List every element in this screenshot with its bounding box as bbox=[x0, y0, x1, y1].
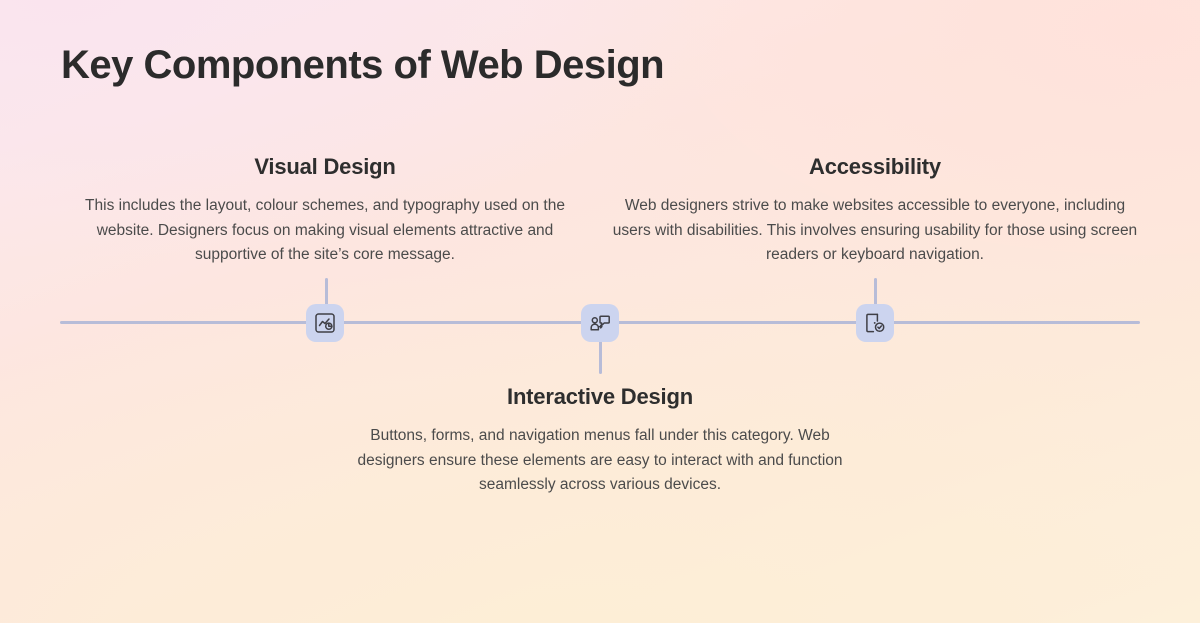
user-message-icon bbox=[588, 311, 612, 335]
timeline-item-accessibility: Accessibility Web designers strive to ma… bbox=[610, 154, 1140, 268]
timeline-marker-accessibility[interactable] bbox=[856, 304, 894, 342]
device-check-icon bbox=[863, 311, 887, 335]
timeline-item-description: Buttons, forms, and navigation menus fal… bbox=[335, 424, 865, 497]
timeline-item-title: Visual Design bbox=[60, 154, 590, 180]
connector-stem-interactive-design bbox=[599, 338, 602, 374]
timeline-item-interactive-design: Interactive Design Buttons, forms, and n… bbox=[335, 384, 865, 498]
timeline-item-description: Web designers strive to make websites ac… bbox=[610, 194, 1140, 267]
slide-root: Key Components of Web Design bbox=[0, 0, 1200, 623]
page-title: Key Components of Web Design bbox=[61, 42, 664, 88]
timeline-item-title: Accessibility bbox=[610, 154, 1140, 180]
timeline-item-description: This includes the layout, colour schemes… bbox=[60, 194, 590, 267]
timeline-marker-interactive-design[interactable] bbox=[581, 304, 619, 342]
timeline-item-title: Interactive Design bbox=[335, 384, 865, 410]
timeline-item-visual-design: Visual Design This includes the layout, … bbox=[60, 154, 590, 268]
chart-analytics-icon bbox=[313, 311, 337, 335]
timeline-marker-visual-design[interactable] bbox=[306, 304, 344, 342]
